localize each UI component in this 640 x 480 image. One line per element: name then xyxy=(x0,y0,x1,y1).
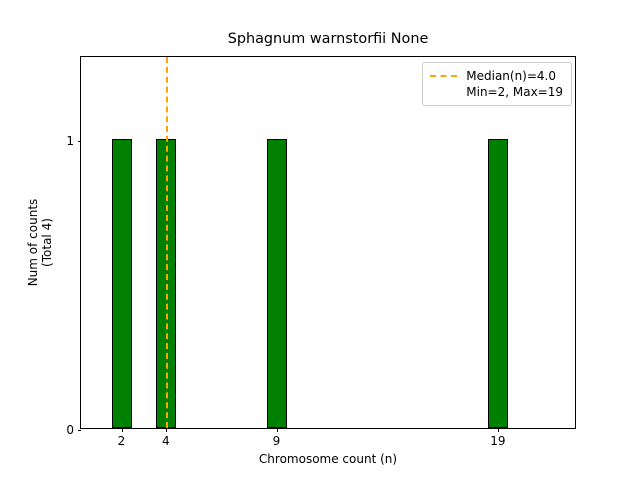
xtick-label-4: 4 xyxy=(162,434,170,448)
legend-label-minmax: Min=2, Max=19 xyxy=(466,84,563,100)
legend-label-median: Median(n)=4.0 xyxy=(466,68,556,84)
xtick-label-9: 9 xyxy=(273,434,281,448)
ytick-mark-1 xyxy=(78,141,82,142)
chart-title: Sphagnum warnstorfii None xyxy=(80,30,576,48)
legend-entry-minmax: Min=2, Max=19 xyxy=(430,84,563,100)
ytick-label-0: 0 xyxy=(66,423,74,437)
ytick-mark-0 xyxy=(78,430,82,431)
x-axis-label: Chromosome count (n) xyxy=(80,452,576,466)
xtick-mark-19 xyxy=(498,428,499,432)
xtick-label-2: 2 xyxy=(118,434,126,448)
dashed-line-icon xyxy=(430,75,457,77)
ytick-label-1: 1 xyxy=(66,134,74,148)
median-layer xyxy=(81,57,575,428)
legend[interactable]: Median(n)=4.0 Min=2, Max=19 xyxy=(422,62,572,106)
xtick-mark-9 xyxy=(277,428,278,432)
xtick-label-19: 19 xyxy=(490,434,505,448)
y-axis-label: Num of counts (Total 4) xyxy=(26,56,54,429)
xtick-mark-2 xyxy=(122,428,123,432)
xtick-mark-4 xyxy=(166,428,167,432)
figure-canvas: Sphagnum warnstorfii None 1 0 2 4 9 19 xyxy=(0,0,640,480)
plot-area: 1 0 2 4 9 19 Median(n)=4.0 Min=2, Max=19 xyxy=(80,56,576,429)
median-line xyxy=(166,57,168,428)
legend-entry-median: Median(n)=4.0 xyxy=(430,68,563,84)
y-axis-label-text: Num of counts (Total 4) xyxy=(26,199,54,287)
